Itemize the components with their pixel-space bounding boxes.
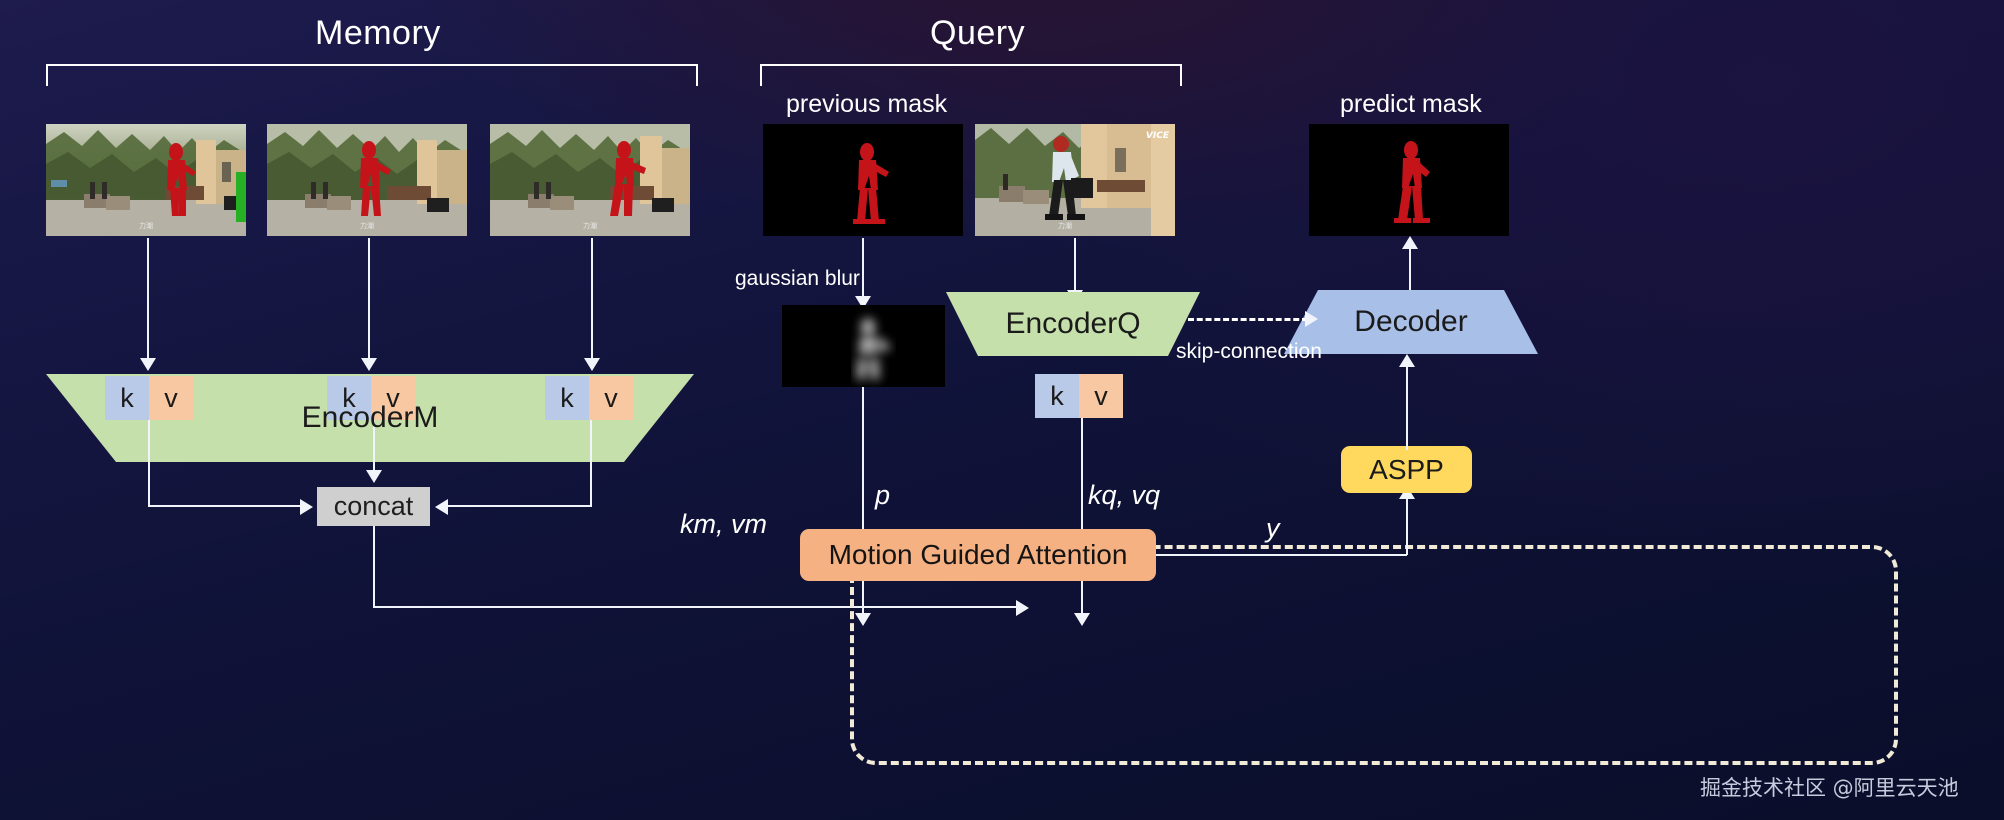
memory-frame-3: 力潮 [490, 124, 690, 236]
decoder-label: Decoder [1354, 305, 1467, 339]
queryrkv-to-mga-line [1081, 418, 1083, 617]
kv1-concat-arrowhead [300, 499, 313, 515]
concat-down-line [373, 526, 375, 608]
mga-to-aspp-line [1156, 554, 1407, 556]
arrowhead-mem2 [361, 358, 377, 371]
svg-text:力潮: 力潮 [360, 221, 374, 230]
value-cell: v [589, 376, 633, 420]
key-cell: k [105, 376, 149, 420]
kv1-down-line [148, 420, 150, 506]
kv2-concat-arrowhead [366, 470, 382, 483]
blur-to-mga-line [862, 387, 864, 617]
svg-text:VICE: VICE [1146, 131, 1170, 141]
arrow-query-to-encoderq [1074, 238, 1076, 294]
skip-connection-line [1188, 318, 1308, 321]
blur-mga-arrowhead [855, 613, 871, 626]
arrow-mem1-to-encoderm [147, 238, 149, 362]
skip-connection-arrowhead [1305, 311, 1318, 327]
memory-section-title: Memory [315, 14, 441, 53]
predict-mask-frame [1309, 124, 1509, 236]
query-bracket [760, 64, 1182, 86]
value-cell: v [149, 376, 193, 420]
svg-text:力潮: 力潮 [583, 221, 597, 230]
concat-label: concat [334, 491, 414, 522]
kv1-to-concat-line [148, 505, 300, 507]
arrowhead-predictmask [1402, 236, 1418, 249]
kv3-down-line [590, 420, 592, 506]
previous-mask-frame [763, 124, 963, 236]
svg-text:力潮: 力潮 [1058, 221, 1072, 230]
querykv-mga-arrowhead [1074, 613, 1090, 626]
arrowhead-mem1 [140, 358, 156, 371]
kv3-to-concat-line [448, 505, 592, 507]
skip-connection-label: skip-connection [1176, 340, 1322, 364]
encoder-q-block[interactable]: EncoderQ [946, 292, 1200, 356]
kq-vq-edge-label: kq, vq [1088, 480, 1160, 511]
km-vm-edge-label: km, vm [680, 509, 767, 540]
gaussian-blur-label: gaussian blur [735, 267, 860, 291]
motion-guided-attention-label: Motion Guided Attention [829, 539, 1128, 571]
key-cell: k [545, 376, 589, 420]
aspp-to-decoder-line [1406, 360, 1408, 450]
kv-pair-memory-3[interactable]: k v [545, 376, 633, 420]
y-edge-label: y [1266, 513, 1280, 544]
key-cell: k [1035, 374, 1079, 418]
aspp-input-line [1406, 490, 1408, 555]
arrow-mem3-to-encoderm [591, 238, 593, 362]
value-cell: v [1079, 374, 1123, 418]
aspp-label: ASPP [1369, 454, 1444, 486]
memory-frame-1: 力潮 [46, 124, 246, 236]
query-image-frame: VICE 力潮 [975, 124, 1175, 236]
encoder-m-label: EncoderM [302, 401, 439, 435]
watermark: 掘金技术社区 @阿里云天池 [1700, 772, 1959, 802]
aspp-decoder-arrowhead [1399, 354, 1415, 367]
kv-pair-query[interactable]: k v [1035, 374, 1123, 418]
kv-pair-memory-1[interactable]: k v [105, 376, 193, 420]
predict-mask-caption: predict mask [1340, 90, 1482, 119]
diagram-canvas: Memory Query [0, 0, 2004, 820]
svg-text:力潮: 力潮 [139, 221, 153, 230]
gaussian-blur-frame [782, 305, 945, 387]
p-edge-label: p [875, 480, 890, 511]
memory-bracket [46, 64, 698, 86]
decoder-block[interactable]: Decoder [1284, 290, 1538, 354]
query-section-title: Query [930, 14, 1025, 53]
kv3-concat-arrowhead [435, 499, 448, 515]
arrowhead-mem3 [584, 358, 600, 371]
motion-guided-attention-block[interactable]: Motion Guided Attention [800, 529, 1156, 581]
arrow-prevmask-to-blur [862, 238, 864, 300]
arrow-mem2-to-encoderm [368, 238, 370, 362]
concat-block[interactable]: concat [317, 487, 430, 526]
encoder-q-label: EncoderQ [1005, 307, 1140, 341]
previous-mask-caption: previous mask [786, 90, 947, 119]
aspp-block[interactable]: ASPP [1341, 446, 1472, 493]
memory-frame-2: 力潮 [267, 124, 467, 236]
